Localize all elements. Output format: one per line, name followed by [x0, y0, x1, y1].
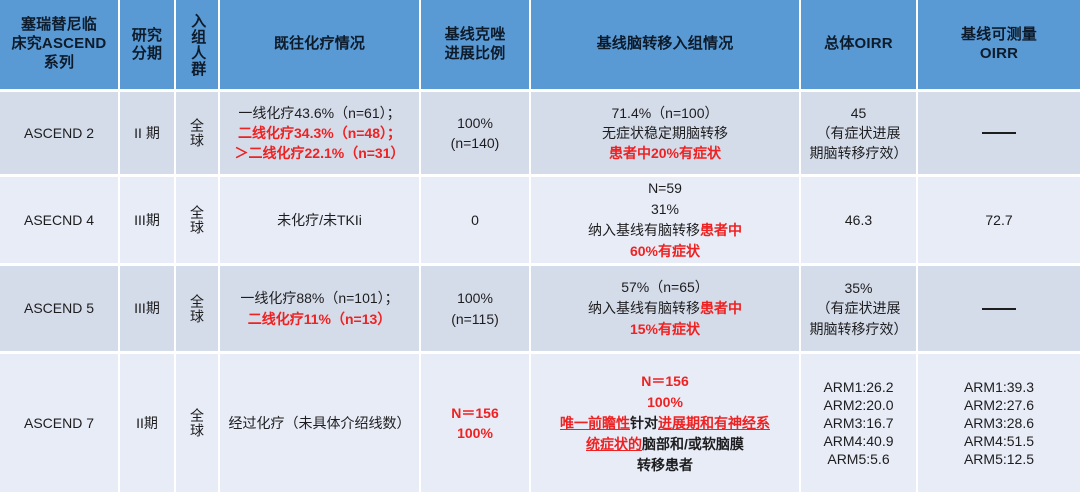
column-header-crizotinib-line-1: 基线克唑: [445, 26, 506, 45]
cell-overall-oirr-line-1: 35%: [844, 278, 872, 298]
column-header-study-line-2: 床究ASCEND: [12, 35, 107, 54]
column-header-prior-chemo: 既往化疗情况: [220, 0, 421, 89]
cell-overall-oirr-line-3: 期脑转移疗效）: [810, 319, 908, 339]
cell-brain-mets-line-2: 31%: [651, 199, 679, 220]
cell-prior-chemo-line-1: 经过化疗（未具体介绍线数）: [229, 413, 411, 433]
cell-brain-mets-line-2: 纳入基线有脑转移患者中: [588, 298, 742, 319]
column-header-crizotinib-line-2: 进展比例: [445, 45, 506, 64]
cell-overall-oirr: 46.3: [801, 177, 918, 263]
cell-brain-mets-line-2: 100%: [647, 392, 683, 413]
measurable-oirr-arm-2: ARM2:27.6: [964, 396, 1034, 414]
cell-brain-mets-line-3: 纳入基线有脑转移患者中: [588, 220, 742, 241]
column-header-crizotinib-progression: 基线克唑 进展比例: [421, 0, 531, 89]
column-header-population: 入组人群: [176, 0, 220, 89]
table-row: ASCEND 7 II期 全球 经过化疗（未具体介绍线数） N＝156 100%…: [0, 354, 1080, 492]
cell-prior-chemo: 经过化疗（未具体介绍线数）: [220, 354, 421, 492]
cell-crizotinib-progression: 100% (n=115): [421, 266, 531, 351]
cell-overall-oirr: 45 （有症状进展 期脑转移疗效）: [801, 92, 918, 174]
cell-phase: II 期: [120, 92, 176, 174]
cell-phase: III期: [120, 266, 176, 351]
table-row: ASCEND 2 II 期 全球 一线化疗43.6%（n=61）； 二线化疗34…: [0, 92, 1080, 177]
column-header-phase-line-2: 分期: [132, 45, 162, 63]
brain-mets-seg-red-underline-c: 统症状的: [586, 436, 642, 452]
column-header-population-label: 入组人群: [189, 13, 206, 77]
cell-measurable-oirr: ARM1:39.3 ARM2:27.6 ARM3:28.6 ARM4:51.5 …: [918, 354, 1080, 492]
cell-population: 全球: [176, 266, 220, 351]
table-header-row: 塞瑞替尼临 床究ASCEND 系列 研究 分期 入组人群 既往化疗情况 基线克唑…: [0, 0, 1080, 92]
cell-prior-chemo: 一线化疗88%（n=101）； 二线化疗11%（n=13）: [220, 266, 421, 351]
column-header-phase-line-1: 研究: [132, 27, 162, 45]
overall-oirr-arm-2: ARM2:20.0: [823, 396, 893, 414]
cell-population-label: 全球: [190, 118, 204, 148]
measurable-oirr-arm-4: ARM4:51.5: [964, 432, 1034, 450]
cell-overall-oirr-line-2: （有症状进展: [817, 298, 901, 318]
overall-oirr-arm-3: ARM3:16.7: [823, 414, 893, 432]
cell-prior-chemo-line-1: 一线化疗88%（n=101）；: [240, 288, 398, 308]
cell-study-label: ASCEND 7: [24, 413, 94, 433]
cell-study: ASCEND 7: [0, 354, 120, 492]
table-row: ASCEND 5 III期 全球 一线化疗88%（n=101）； 二线化疗11%…: [0, 266, 1080, 354]
cell-brain-mets-line-1: 71.4%（n=100）: [611, 103, 718, 123]
column-header-study-line-1: 塞瑞替尼临: [21, 16, 97, 35]
cell-phase-label: II 期: [134, 123, 160, 143]
cell-crizotinib-progression: 0: [421, 177, 531, 263]
cell-baseline-brain-mets: N=59 31% 纳入基线有脑转移患者中 60%有症状: [531, 177, 801, 263]
cell-population: 全球: [176, 354, 220, 492]
cell-prior-chemo: 未化疗/未TKIi: [220, 177, 421, 263]
cell-brain-mets-line-4: 60%有症状: [630, 241, 700, 262]
cell-crizotinib-progression: 100% (n=140): [421, 92, 531, 174]
cell-brain-mets-line-3: 唯一前瞻性针对进展期和有神经系: [560, 413, 770, 434]
column-header-measurable-oirr-line-2: OIRR: [980, 45, 1018, 64]
brain-mets-seg-red: 患者中: [700, 300, 742, 316]
cell-overall-oirr-line-2: （有症状进展: [817, 123, 901, 143]
cell-overall-oirr-line-3: 期脑转移疗效）: [810, 143, 908, 163]
cell-study: ASCEND 2: [0, 92, 120, 174]
column-header-measurable-oirr-line-1: 基线可测量: [961, 26, 1037, 45]
overall-oirr-arm-4: ARM4:40.9: [823, 432, 893, 450]
em-dash-icon: [982, 132, 1016, 134]
cell-overall-oirr-line-1: 45: [851, 103, 867, 123]
measurable-oirr-arm-3: ARM3:28.6: [964, 414, 1034, 432]
cell-phase-label: III期: [134, 298, 160, 318]
column-header-phase: 研究 分期: [120, 0, 176, 89]
cell-crizotinib-line-2: (n=140): [451, 133, 500, 153]
cell-crizotinib-line-1: 100%: [457, 113, 493, 133]
cell-study-label: ASCEND 2: [24, 123, 94, 143]
cell-crizotinib-line-2: 100%: [457, 423, 493, 443]
cell-crizotinib-line-1: 0: [471, 210, 479, 230]
cell-study: ASECND 4: [0, 177, 120, 263]
cell-study: ASCEND 5: [0, 266, 120, 351]
cell-phase: III期: [120, 177, 176, 263]
cell-population-label: 全球: [190, 408, 204, 438]
column-header-prior-chemo-label: 既往化疗情况: [274, 35, 365, 54]
column-header-overall-oirr-label: 总体OIRR: [824, 35, 893, 54]
clinical-trials-table: 塞瑞替尼临 床究ASCEND 系列 研究 分期 入组人群 既往化疗情况 基线克唑…: [0, 0, 1080, 495]
cell-overall-oirr: ARM1:26.2 ARM2:20.0 ARM3:16.7 ARM4:40.9 …: [801, 354, 918, 492]
cell-prior-chemo: 一线化疗43.6%（n=61）； 二线化疗34.3%（n=48）； ＞二线化疗2…: [220, 92, 421, 174]
cell-crizotinib-line-1: 100%: [457, 288, 493, 308]
cell-brain-mets-line-4: 统症状的脑部和/或软脑膜: [586, 434, 744, 455]
measurable-oirr-arm-list: ARM1:39.3 ARM2:27.6 ARM3:28.6 ARM4:51.5 …: [964, 378, 1034, 469]
cell-brain-mets-line-2: 无症状稳定期脑转移: [602, 123, 728, 143]
measurable-oirr-arm-1: ARM1:39.3: [964, 378, 1034, 396]
cell-measurable-oirr: [918, 92, 1080, 174]
brain-mets-seg-black: 纳入基线有脑转移: [588, 222, 700, 238]
cell-brain-mets-line-5: 转移患者: [637, 455, 693, 476]
em-dash-icon: [982, 308, 1016, 310]
cell-baseline-brain-mets: 57%（n=65） 纳入基线有脑转移患者中 15%有症状: [531, 266, 801, 351]
column-header-measurable-oirr: 基线可测量 OIRR: [918, 0, 1080, 89]
cell-population-label: 全球: [190, 205, 204, 235]
cell-crizotinib-progression: N＝156 100%: [421, 354, 531, 492]
cell-baseline-brain-mets: N＝156 100% 唯一前瞻性针对进展期和有神经系 统症状的脑部和/或软脑膜 …: [531, 354, 801, 492]
overall-oirr-arm-list: ARM1:26.2 ARM2:20.0 ARM3:16.7 ARM4:40.9 …: [823, 378, 893, 469]
brain-mets-seg-red-underline-b: 进展期和有神经系: [658, 415, 770, 431]
brain-mets-seg-black-b: 脑部和/或软脑膜: [642, 436, 744, 452]
table-row: ASECND 4 III期 全球 未化疗/未TKIi 0 N=59 31% 纳入…: [0, 177, 1080, 266]
cell-prior-chemo-line-1: 未化疗/未TKIi: [277, 210, 362, 230]
cell-brain-mets-line-1: N=59: [648, 178, 682, 199]
cell-phase: II期: [120, 354, 176, 492]
cell-phase-label: III期: [134, 210, 160, 230]
cell-study-label: ASCEND 5: [24, 298, 94, 318]
overall-oirr-arm-5: ARM5:5.6: [827, 450, 889, 468]
cell-prior-chemo-line-2: 二线化疗34.3%（n=48）；: [238, 123, 401, 143]
column-header-baseline-brain-mets: 基线脑转移入组情况: [531, 0, 801, 89]
brain-mets-seg-red: 患者中: [700, 222, 742, 238]
column-header-baseline-brain-mets-label: 基线脑转移入组情况: [597, 35, 734, 54]
cell-measurable-oirr: [918, 266, 1080, 351]
cell-prior-chemo-line-3: ＞二线化疗22.1%（n=31）: [235, 143, 405, 163]
cell-measurable-oirr-line-1: 72.7: [985, 210, 1012, 230]
measurable-oirr-arm-5: ARM5:12.5: [964, 450, 1034, 468]
column-header-overall-oirr: 总体OIRR: [801, 0, 918, 89]
overall-oirr-arm-1: ARM1:26.2: [823, 378, 893, 396]
cell-measurable-oirr: 72.7: [918, 177, 1080, 263]
cell-prior-chemo-line-1: 一线化疗43.6%（n=61）；: [238, 103, 400, 123]
cell-study-label: ASECND 4: [24, 210, 94, 230]
cell-overall-oirr: 35% （有症状进展 期脑转移疗效）: [801, 266, 918, 351]
cell-brain-mets-line-1: N＝156: [641, 371, 688, 392]
cell-population-label: 全球: [190, 294, 204, 324]
cell-overall-oirr-line-1: 46.3: [845, 210, 872, 230]
cell-brain-mets-line-3: 患者中20%有症状: [609, 143, 721, 163]
column-header-study-line-3: 系列: [44, 54, 74, 73]
cell-brain-mets-line-3: 15%有症状: [630, 319, 700, 340]
cell-crizotinib-line-2: (n=115): [451, 309, 499, 329]
column-header-study: 塞瑞替尼临 床究ASCEND 系列: [0, 0, 120, 89]
cell-baseline-brain-mets: 71.4%（n=100） 无症状稳定期脑转移 患者中20%有症状: [531, 92, 801, 174]
cell-brain-mets-line-1: 57%（n=65）: [621, 277, 709, 298]
cell-prior-chemo-line-2: 二线化疗11%（n=13）: [248, 309, 392, 329]
brain-mets-seg-black: 纳入基线有脑转移: [588, 300, 700, 316]
cell-phase-label: II期: [136, 413, 158, 433]
brain-mets-seg-black-a: 针对: [630, 415, 658, 431]
cell-population: 全球: [176, 92, 220, 174]
cell-crizotinib-line-1: N＝156: [451, 403, 498, 423]
brain-mets-seg-red-underline-a: 唯一前瞻性: [560, 415, 630, 431]
cell-population: 全球: [176, 177, 220, 263]
